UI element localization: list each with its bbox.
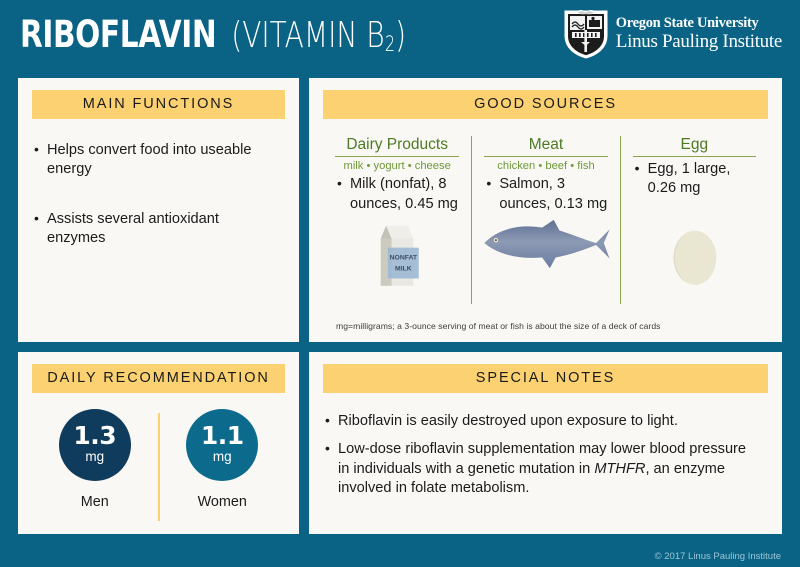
source-heading: Dairy Products	[335, 136, 459, 157]
good-sources-columns: Dairy Products milk • yogurt • cheese Mi…	[323, 136, 768, 304]
recommendation-unit: mg	[85, 449, 104, 465]
source-items: Egg, 1 large, 0.26 mg	[633, 160, 756, 199]
svg-text:NONFAT: NONFAT	[390, 254, 418, 261]
list-item: Assists several antioxidant enzymes	[32, 210, 285, 249]
page-title-main: RIBOFLAVIN	[20, 13, 216, 56]
page-header: RIBOFLAVIN (VITAMIN B2)	[0, 0, 800, 68]
recommendation-women: 1.1 mg Women	[160, 409, 286, 510]
note-text: Riboflavin is easily destroyed upon expo…	[338, 413, 678, 429]
source-items: Milk (nonfat), 8 ounces, 0.45 mg	[335, 175, 459, 214]
recommendation-men: 1.3 mg Men	[32, 409, 158, 510]
logo-line-university: Oregon State University	[616, 15, 782, 31]
value-circle: 1.3 mg	[59, 409, 131, 481]
special-notes-title: SPECIAL NOTES	[323, 364, 768, 393]
daily-recommendation-body: 1.3 mg Men 1.1 mg Women	[32, 409, 285, 529]
main-functions-title: MAIN FUNCTIONS	[32, 90, 285, 119]
source-subheading: milk • yogurt • cheese	[335, 160, 459, 172]
source-column-egg: Egg Egg, 1 large, 0.26 mg	[620, 136, 768, 304]
source-heading: Meat	[484, 136, 607, 157]
good-sources-footnote: mg=milligrams; a 3-ounce serving of meat…	[336, 321, 661, 331]
source-subheading: chicken • beef • fish	[484, 160, 607, 172]
source-column-dairy: Dairy Products milk • yogurt • cheese Mi…	[323, 136, 471, 304]
copyright-notice: © 2017 Linus Pauling Institute	[655, 551, 781, 562]
good-sources-title: GOOD SOURCES	[323, 90, 768, 119]
special-notes-list: Riboflavin is easily destroyed upon expo…	[323, 412, 768, 499]
panel-good-sources: GOOD SOURCES Dairy Products milk • yogur…	[309, 78, 782, 342]
main-functions-list: Helps convert food into useable energy A…	[32, 141, 285, 249]
content-grid: MAIN FUNCTIONS Helps convert food into u…	[18, 78, 782, 544]
page-title-subtitle: (VITAMIN B2)	[225, 15, 406, 56]
list-item: Milk (nonfat), 8 ounces, 0.45 mg	[335, 175, 459, 214]
list-item: Low-dose riboflavin supplementation may …	[323, 440, 768, 498]
panel-main-functions: MAIN FUNCTIONS Helps convert food into u…	[18, 78, 299, 342]
egg-icon	[621, 218, 768, 296]
milk-carton-icon: NONFAT MILK	[323, 218, 471, 296]
osu-lpi-logo: Oregon State University Linus Pauling In…	[563, 8, 782, 60]
osu-shield-icon	[563, 8, 609, 60]
recommendation-value: 1.3	[73, 424, 116, 448]
logo-line-institute: Linus Pauling Institute	[616, 31, 782, 52]
list-item: Riboflavin is easily destroyed upon expo…	[323, 412, 768, 431]
note-emphasis: MTHFR	[594, 461, 645, 477]
list-item: Helps convert food into useable energy	[32, 141, 285, 180]
source-heading: Egg	[633, 136, 756, 157]
list-item: Egg, 1 large, 0.26 mg	[633, 160, 756, 199]
page-title-subscript: 2	[385, 32, 395, 56]
svg-text:MILK: MILK	[395, 265, 412, 272]
source-column-meat: Meat chicken • beef • fish Salmon, 3 oun…	[471, 136, 619, 304]
recommendation-label: Women	[198, 494, 247, 510]
daily-recommendation-title: DAILY RECOMMENDATION	[32, 364, 285, 393]
page-title-subtitle-open: (VITAMIN B	[232, 15, 385, 56]
recommendation-value: 1.1	[201, 424, 244, 448]
panel-daily-recommendation: DAILY RECOMMENDATION 1.3 mg Men 1.1 mg W…	[18, 352, 299, 534]
salmon-fish-icon	[472, 218, 619, 296]
page-title-subtitle-close: )	[395, 15, 406, 56]
page-title: RIBOFLAVIN (VITAMIN B2)	[20, 13, 457, 56]
source-items: Salmon, 3 ounces, 0.13 mg	[484, 175, 607, 214]
recommendation-unit: mg	[213, 449, 232, 465]
list-item: Salmon, 3 ounces, 0.13 mg	[484, 175, 607, 214]
value-circle: 1.1 mg	[186, 409, 258, 481]
panel-special-notes: SPECIAL NOTES Riboflavin is easily destr…	[309, 352, 782, 534]
logo-wordmark: Oregon State University Linus Pauling In…	[616, 15, 782, 53]
recommendation-label: Men	[81, 494, 109, 510]
